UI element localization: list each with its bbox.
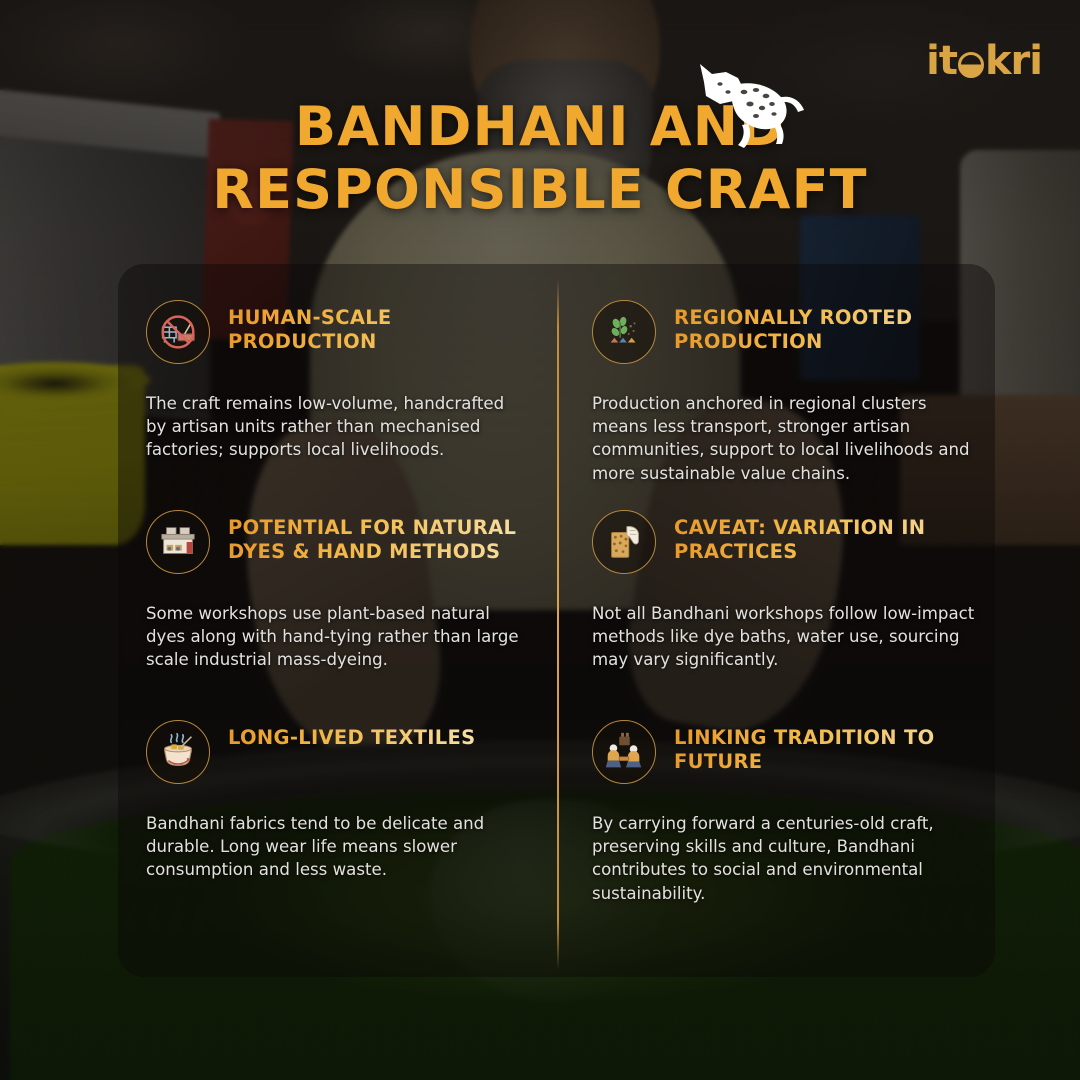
title-line-1: BANDHANI AND [0, 96, 1080, 159]
card-long-lived-textiles: LONG-LIVED TEXTILES Bandhani fabrics ten… [118, 684, 544, 977]
plants-soil-mounds-icon [592, 300, 656, 364]
card-body: By carrying forward a centuries-old craf… [592, 812, 977, 905]
artisan-workshop-building-icon [146, 510, 210, 574]
logo-text-it: it [926, 38, 957, 84]
card-body: Production anchored in regional clusters… [592, 392, 977, 485]
logo-basket-icon [958, 52, 984, 78]
card-title: POTENTIAL FOR NATURAL DYES & HAND METHOD… [228, 510, 520, 564]
page-title: BANDHANI AND RESPONSIBLE CRAFT [0, 96, 1080, 221]
two-artisans-working-icon [592, 720, 656, 784]
card-header: LONG-LIVED TEXTILES [146, 720, 520, 784]
card-header: LINKING TRADITION TO FUTURE [592, 720, 977, 784]
header: itkri BANDHANI AND RESPONSIBLE CRAFT [0, 0, 1080, 250]
title-line-2: RESPONSIBLE CRAFT [0, 159, 1080, 222]
feature-grid: HUMAN-SCALE PRODUCTION The craft remains… [118, 264, 995, 977]
card-title: HUMAN-SCALE PRODUCTION [228, 300, 520, 354]
card-human-scale-production: HUMAN-SCALE PRODUCTION The craft remains… [118, 264, 544, 474]
steaming-dye-pot-icon [146, 720, 210, 784]
card-header: CAVEAT: VARIATION IN PRACTICES [592, 510, 977, 574]
hand-holding-patterned-fabric-icon [592, 510, 656, 574]
card-title: LINKING TRADITION TO FUTURE [674, 720, 977, 774]
card-body: Bandhani fabrics tend to be delicate and… [146, 812, 520, 882]
card-linking-tradition-to-future: LINKING TRADITION TO FUTURE By carrying … [544, 684, 995, 977]
leopard-cat-illustration-icon [686, 52, 806, 152]
card-body: Some workshops use plant-based natural d… [146, 602, 520, 672]
brand-logo[interactable]: itkri [926, 38, 1042, 84]
card-caveat-variation-in-practices: CAVEAT: VARIATION IN PRACTICES Not all B… [544, 474, 995, 684]
card-title: LONG-LIVED TEXTILES [228, 720, 476, 750]
card-header: REGIONALLY ROOTED PRODUCTION [592, 300, 977, 364]
card-title: CAVEAT: VARIATION IN PRACTICES [674, 510, 977, 564]
card-regionally-rooted-production: REGIONALLY ROOTED PRODUCTION Production … [544, 264, 995, 474]
card-body: Not all Bandhani workshops follow low-im… [592, 602, 977, 672]
card-header: HUMAN-SCALE PRODUCTION [146, 300, 520, 364]
card-natural-dyes-hand-methods: POTENTIAL FOR NATURAL DYES & HAND METHOD… [118, 474, 544, 684]
no-factory-machine-icon [146, 300, 210, 364]
logo-text-kri: kri [985, 38, 1042, 84]
card-header: POTENTIAL FOR NATURAL DYES & HAND METHOD… [146, 510, 520, 574]
card-title: REGIONALLY ROOTED PRODUCTION [674, 300, 977, 354]
card-body: The craft remains low-volume, handcrafte… [146, 392, 520, 462]
